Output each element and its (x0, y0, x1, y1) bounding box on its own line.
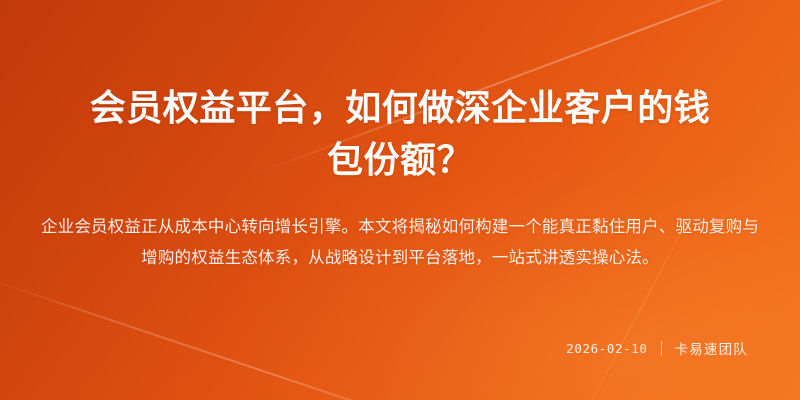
article-cover-card: 会员权益平台，如何做深企业客户的钱 包份额？ 企业会员权益正从成本中心转向增长引… (0, 0, 800, 400)
page-title-line-2: 包份额？ (327, 139, 473, 180)
page-subtitle: 企业会员权益正从成本中心转向增长引擎。本文将揭秘如何构建一个能真正黏住用户、驱动… (39, 186, 761, 274)
card-content: 会员权益平台，如何做深企业客户的钱 包份额？ 企业会员权益正从成本中心转向增长引… (0, 0, 800, 400)
page-title-line-1: 会员权益平台，如何做深企业客户的钱 (90, 87, 711, 128)
page-title: 会员权益平台，如何做深企业客户的钱 包份额？ (50, 0, 750, 186)
